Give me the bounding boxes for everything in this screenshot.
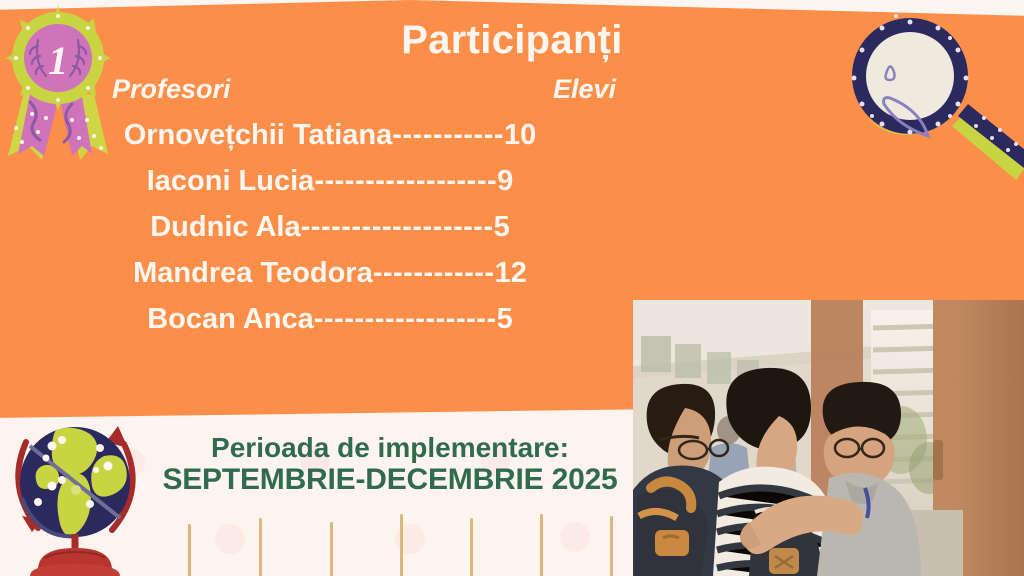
pencil-line-decor bbox=[188, 524, 191, 576]
pencil-line-decor bbox=[400, 514, 403, 576]
pencil-line-decor bbox=[610, 516, 613, 576]
presentation-slide: 1 Participanți bbox=[0, 0, 1024, 576]
participant-count: 12 bbox=[495, 257, 527, 290]
participant-name: Dudnic Ala bbox=[150, 211, 300, 244]
pencil-line-decor bbox=[330, 522, 333, 576]
pencil-line-decor bbox=[540, 514, 543, 576]
column-header-profesori: Profesori bbox=[112, 74, 231, 105]
pale-circle-decor bbox=[560, 522, 590, 552]
list-item: Iaconi Lucia ------------------ 9 bbox=[0, 158, 660, 204]
participant-name: Ornovețchii Tatiana bbox=[124, 119, 393, 152]
participants-list: Ornovețchii Tatiana ----------- 10 Iacon… bbox=[0, 112, 660, 342]
column-header-elevi: Elevi bbox=[553, 74, 616, 105]
participant-count: 10 bbox=[504, 119, 536, 152]
participant-count: 5 bbox=[494, 211, 510, 244]
list-item: Bocan Anca ------------------ 5 bbox=[0, 296, 660, 342]
participant-name: Bocan Anca bbox=[147, 303, 314, 336]
leader-dashes: ------------ bbox=[373, 257, 495, 290]
period-label: Perioada de implementare: bbox=[140, 432, 640, 463]
magnifying-glass-icon bbox=[840, 8, 1024, 183]
participant-name: Iaconi Lucia bbox=[147, 165, 315, 198]
leader-dashes: ------------------ bbox=[314, 303, 497, 336]
desk-globe-icon bbox=[8, 404, 143, 576]
list-item: Ornovețchii Tatiana ----------- 10 bbox=[0, 112, 660, 158]
students-photo bbox=[633, 300, 1024, 576]
implementation-period: Perioada de implementare: SEPTEMBRIE-DEC… bbox=[140, 432, 640, 497]
pencil-line-decor bbox=[259, 518, 262, 576]
participant-count: 5 bbox=[497, 303, 513, 336]
period-value: SEPTEMBRIE-DECEMBRIE 2025 bbox=[140, 463, 640, 497]
leader-dashes: ------------------ bbox=[314, 165, 497, 198]
participant-name: Mandrea Teodora bbox=[133, 257, 373, 290]
list-item: Mandrea Teodora ------------ 12 bbox=[0, 250, 660, 296]
leader-dashes: ------------------- bbox=[301, 211, 494, 244]
participant-count: 9 bbox=[497, 165, 513, 198]
pencil-line-decor bbox=[470, 518, 473, 576]
leader-dashes: ----------- bbox=[392, 119, 504, 152]
list-item: Dudnic Ala ------------------- 5 bbox=[0, 204, 660, 250]
pale-circle-decor bbox=[215, 524, 245, 554]
